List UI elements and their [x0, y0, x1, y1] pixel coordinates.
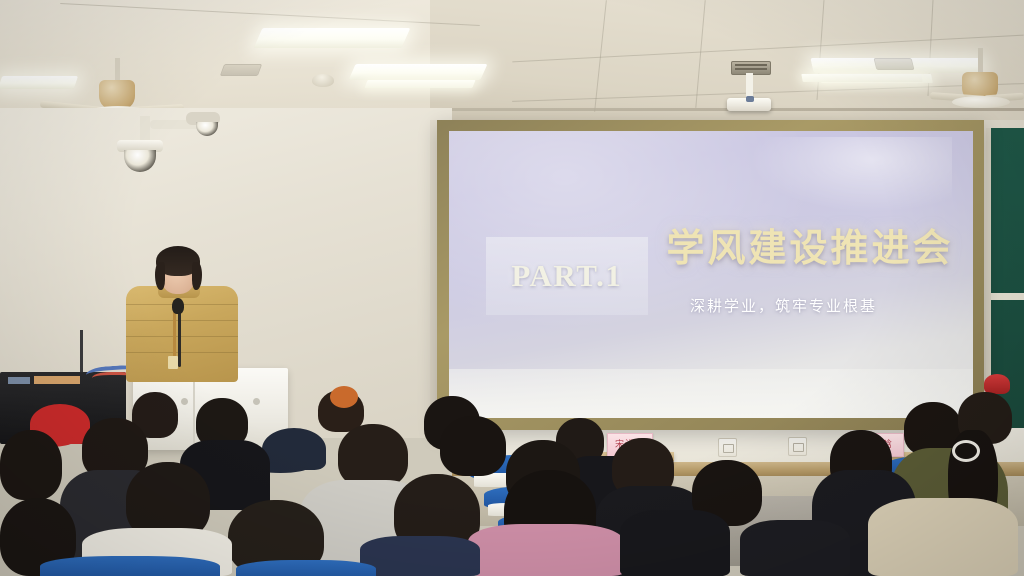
ceiling-fan-rod [978, 48, 983, 74]
ceiling-fan-plate [952, 96, 1010, 108]
speaker-hair-side [155, 262, 165, 290]
av-antenna [80, 330, 83, 378]
panel-light [0, 76, 78, 89]
screen-hotspot [753, 137, 952, 212]
audience-head [440, 416, 506, 476]
microphone-stem[interactable] [178, 305, 181, 367]
speaker-badge [168, 356, 178, 369]
podium-knob [181, 398, 188, 405]
classroom-photo: PART.1 学风建设推进会 深耕学业，筑牢专业根基 [0, 0, 1024, 576]
slide-footer-band [449, 369, 973, 418]
dome-camera-arm [140, 116, 150, 142]
microphone[interactable] [172, 298, 184, 314]
ceiling-fan-rod [115, 58, 120, 82]
tube-light [801, 74, 922, 82]
audience-hair-dyed [330, 386, 358, 408]
audience-head [338, 424, 408, 488]
hair-tie [952, 440, 980, 462]
slide-subtitle: 深耕学业，筑牢专业根基 [690, 295, 877, 316]
wall-socket[interactable] [718, 438, 737, 457]
slide-heading: 学风建设推进会 [666, 217, 953, 272]
av-rack-panel [8, 377, 30, 384]
navy-cap [262, 428, 326, 470]
slide-part-label: PART.1 [511, 258, 622, 294]
slide-part-band: PART.1 [486, 237, 648, 314]
chair-foreground[interactable] [236, 560, 376, 576]
projection-screen[interactable]: PART.1 学风建设推进会 深耕学业，筑牢专业根基 [437, 120, 984, 430]
audience-head [0, 430, 62, 500]
ceiling-vent [220, 64, 262, 76]
audience-torso [360, 536, 480, 576]
audience-jacket-cream [868, 498, 1018, 576]
red-object [984, 374, 1010, 394]
podium-knob [253, 398, 260, 405]
audience-torso [620, 510, 730, 576]
audience-torso [740, 520, 850, 576]
tube-light [364, 80, 475, 88]
panel-light [348, 64, 487, 80]
ceiling-vent [874, 58, 915, 70]
smoke-detector [312, 74, 334, 87]
chair-foreground[interactable] [40, 556, 220, 576]
chalkboard-rail [991, 293, 1024, 300]
audience-hoodie-pink [468, 524, 624, 576]
panel-light [254, 28, 411, 48]
projection-surface: PART.1 学风建设推进会 深耕学业，筑牢专业根基 [449, 131, 973, 418]
projector-lens [746, 96, 754, 102]
av-rack-label [34, 376, 80, 384]
wall-socket[interactable] [788, 437, 807, 456]
